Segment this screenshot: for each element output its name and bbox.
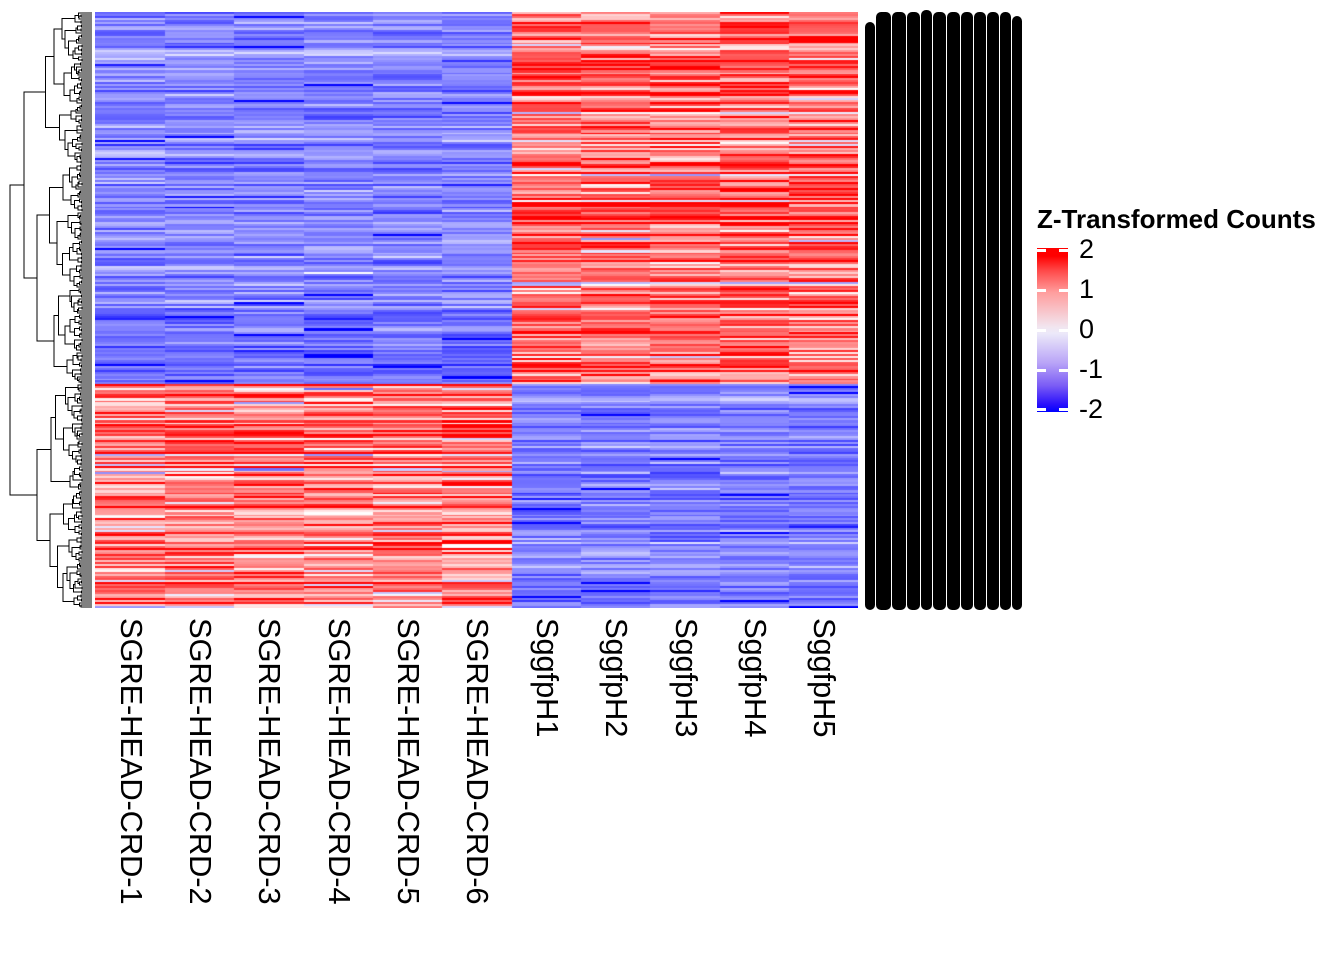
legend-tick-label-2: 2 [1079, 236, 1094, 263]
legend-colorbar-wrap: 2 1 0 -1 -2 [1037, 248, 1068, 412]
column-label-text: SggfpH1 [529, 618, 565, 737]
legend-tick-mark-2-right [1059, 249, 1068, 252]
row-dendrogram [4, 12, 92, 608]
column-label-sggfph1: SggfpH1 [511, 612, 580, 942]
row-labels-block [864, 8, 1022, 612]
column-label-text: SggfpH2 [598, 618, 634, 737]
legend-tick-mark-neg1-right [1059, 369, 1068, 372]
legend-tick-mark-neg1-left [1037, 369, 1046, 372]
column-label-sgre-head-crd-1: SGRE-HEAD-CRD-1 [95, 612, 164, 942]
column-label-text: SggfpH3 [668, 618, 704, 737]
heatmap-grid [95, 12, 858, 608]
column-label-text: SGRE-HEAD-CRD-6 [460, 618, 496, 904]
legend-tick-mark-neg2-right [1059, 408, 1068, 411]
column-label-sgre-head-crd-3: SGRE-HEAD-CRD-3 [234, 612, 303, 942]
legend-tick-label-neg2: -2 [1079, 396, 1103, 423]
column-label-text: SGRE-HEAD-CRD-5 [390, 618, 426, 904]
column-label-text: SGRE-HEAD-CRD-4 [321, 618, 357, 904]
column-label-text: SGRE-HEAD-CRD-2 [182, 618, 218, 904]
column-label-sgre-head-crd-4: SGRE-HEAD-CRD-4 [303, 612, 372, 942]
row-labels-bars-svg [864, 8, 1022, 612]
legend-tick-mark-1-right [1059, 289, 1068, 292]
column-label-sgre-head-crd-5: SGRE-HEAD-CRD-5 [372, 612, 441, 942]
legend-tick-mark-2-left [1037, 249, 1046, 252]
column-label-sggfph4: SggfpH4 [719, 612, 788, 942]
heatmap-figure: SGRE-HEAD-CRD-1 SGRE-HEAD-CRD-2 SGRE-HEA… [0, 0, 1344, 960]
column-label-text: SggfpH4 [737, 618, 773, 737]
legend-tick-mark-0-right [1059, 329, 1068, 332]
column-label-text: SggfpH5 [806, 618, 842, 737]
legend-tick-label-1: 1 [1079, 276, 1094, 303]
legend-tick-label-0: 0 [1079, 316, 1094, 343]
column-label-sgre-head-crd-6: SGRE-HEAD-CRD-6 [442, 612, 511, 942]
column-label-sggfph5: SggfpH5 [789, 612, 858, 942]
legend-title: Z-Transformed Counts [1037, 204, 1316, 235]
legend-tick-mark-1-left [1037, 289, 1046, 292]
column-label-text: SGRE-HEAD-CRD-1 [113, 618, 149, 904]
column-label-row: SGRE-HEAD-CRD-1 SGRE-HEAD-CRD-2 SGRE-HEA… [95, 612, 858, 942]
row-dendrogram-svg [4, 12, 92, 608]
legend-tick-label-neg1: -1 [1079, 356, 1103, 383]
legend: Z-Transformed Counts 2 1 0 -1 -2 [1033, 204, 1333, 419]
legend-tick-mark-0-left [1037, 329, 1046, 332]
column-label-sggfph3: SggfpH3 [650, 612, 719, 942]
column-label-sggfph2: SggfpH2 [581, 612, 650, 942]
legend-tick-mark-neg2-left [1037, 408, 1046, 411]
column-label-text: SGRE-HEAD-CRD-3 [252, 618, 288, 904]
column-label-sgre-head-crd-2: SGRE-HEAD-CRD-2 [164, 612, 233, 942]
